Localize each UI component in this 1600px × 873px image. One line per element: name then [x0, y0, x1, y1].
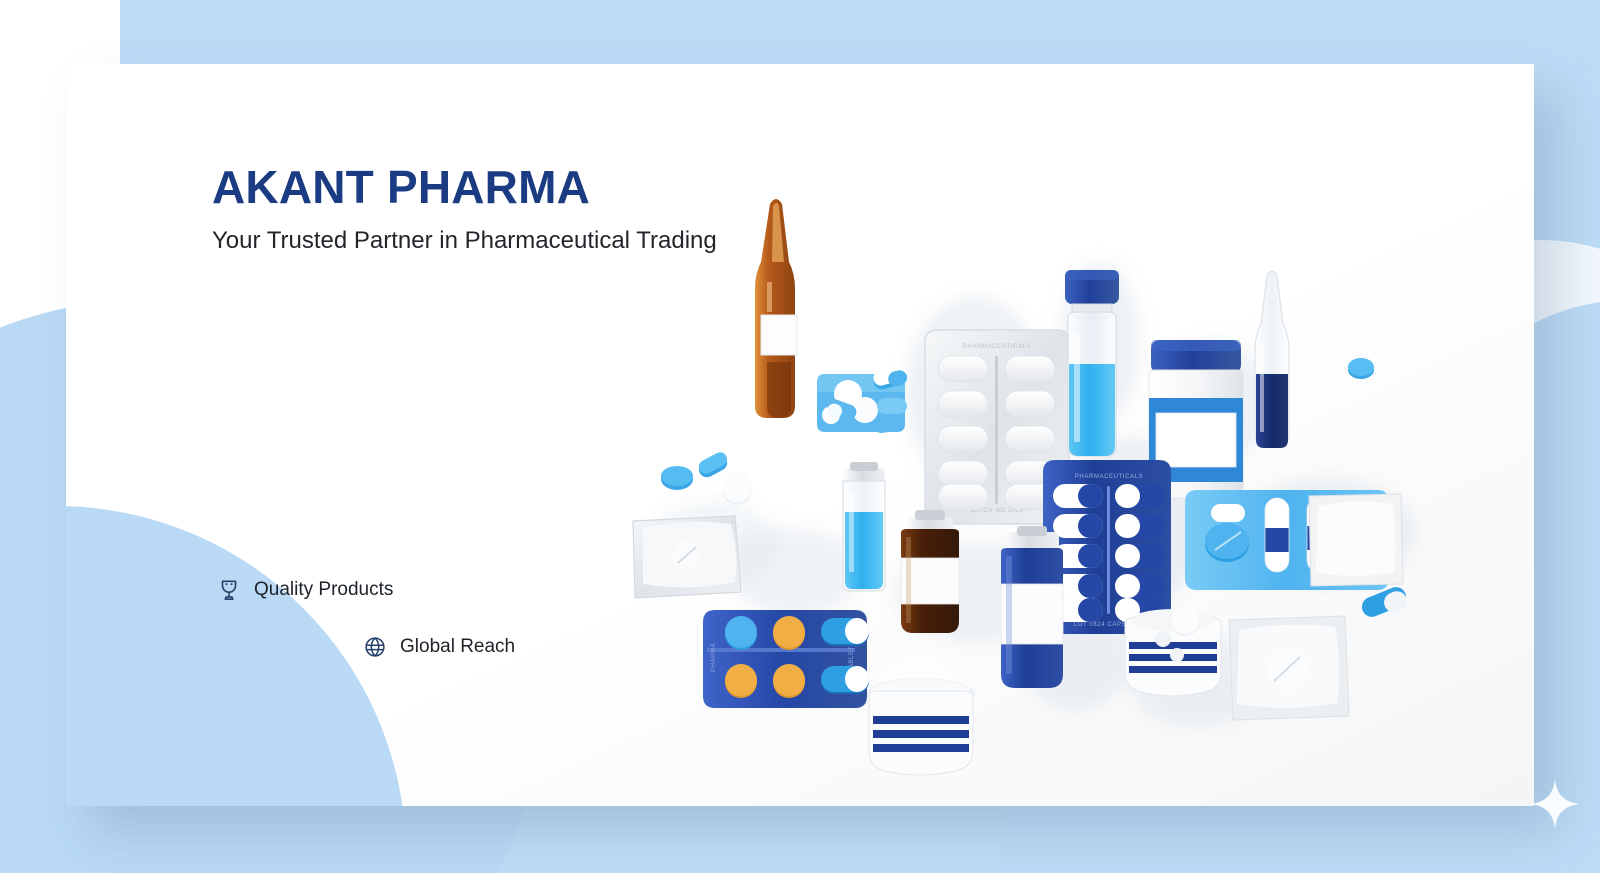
blue-blister-round-pills: PHARMA TABLETS [703, 610, 869, 708]
feature-label: Quality Products [254, 579, 393, 601]
poster-canvas: AKANT PHARMA Your Trusted Partner in Pha… [0, 0, 1600, 873]
svg-text:PHARMA: PHARMA [711, 643, 717, 672]
sparkle-star-icon [1528, 777, 1582, 831]
navy-vial-white-label [1001, 526, 1063, 688]
svg-text:PHARMACEUTICALS: PHARMACEUTICALS [963, 344, 1031, 350]
cream-jar-striped-front [867, 656, 975, 775]
amber-jar-white-label [901, 510, 959, 633]
loose-pills-blue [661, 450, 752, 505]
page-title: AKANT PHARMA [212, 164, 590, 210]
clear-ampoule-navy-liquid [1255, 271, 1289, 448]
feature-label: Global Reach [400, 636, 515, 658]
clear-vial-blue-liquid [843, 462, 885, 591]
feature-global-reach[interactable]: Global Reach [362, 634, 515, 660]
globe-icon [362, 634, 388, 660]
card-corner-blue-circle [66, 506, 406, 806]
svg-text:PHARMACEUTICALS: PHARMACEUTICALS [1075, 474, 1143, 480]
silver-sachet-left [633, 516, 741, 598]
amber-ampoule [755, 199, 797, 418]
silver-sachet-right [1229, 616, 1349, 720]
white-sachet-large [1309, 494, 1403, 586]
feature-quality-products[interactable]: Quality Products [216, 577, 393, 603]
trophy-icon [216, 577, 242, 603]
pill-tray-lightblue [817, 364, 909, 434]
hero-card: AKANT PHARMA Your Trusted Partner in Pha… [66, 64, 1534, 806]
clear-bottle-blue-liquid [1065, 270, 1119, 456]
loose-pill-blue-right [1348, 358, 1374, 379]
pharmaceutical-products-arrangement: PHARMACEUTICALS BATCH NO 2024 [555, 192, 1455, 792]
